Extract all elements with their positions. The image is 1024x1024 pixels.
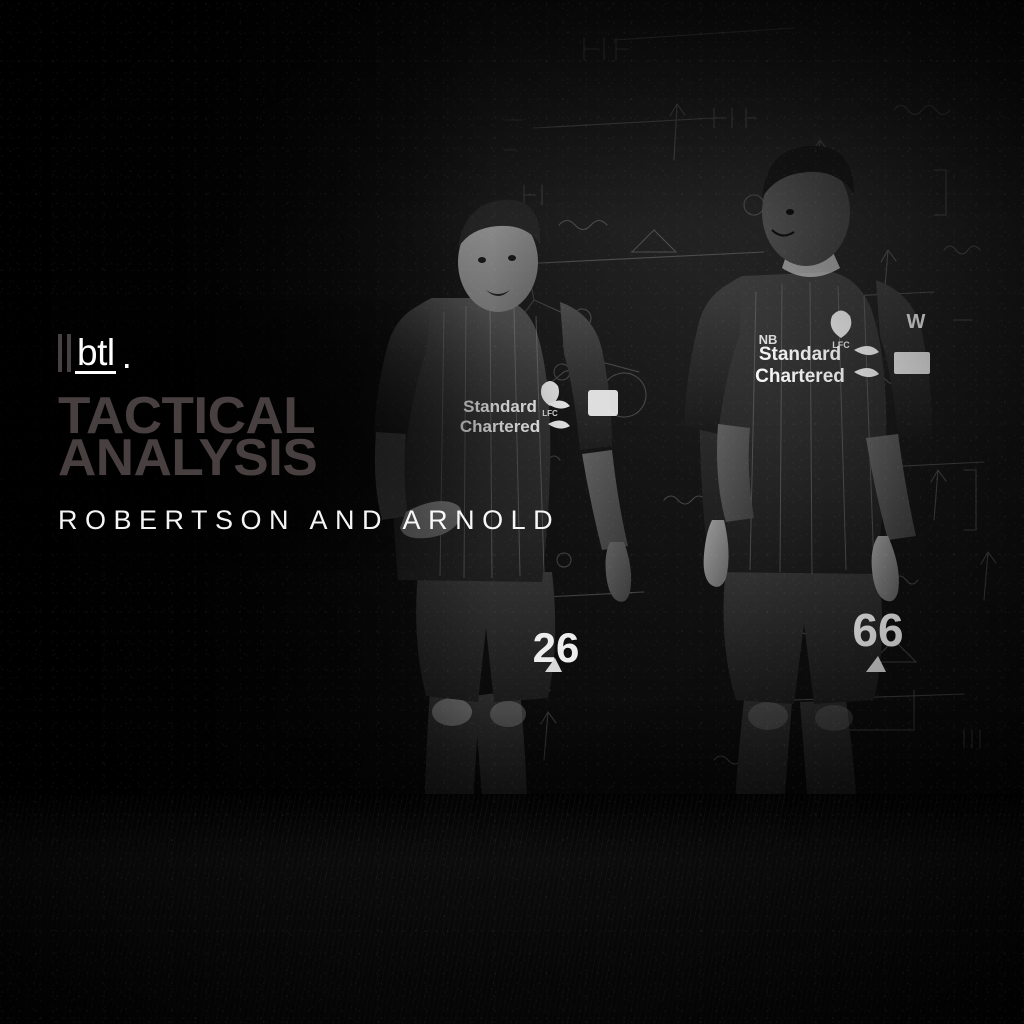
poster-canvas: 26 [0, 0, 1024, 1024]
logo-wordmark: btl [75, 336, 116, 374]
logo-bars-icon [58, 334, 71, 374]
headline-block: btl . TACTICAL ANALYSIS ROBERTSON AND AR… [58, 330, 578, 536]
btl-logo[interactable]: btl . [58, 330, 578, 374]
title-line-2: ANALYSIS [58, 438, 588, 480]
logo-dot: . [120, 339, 132, 373]
page-title: TACTICAL ANALYSIS [58, 396, 588, 479]
subtitle: ROBERTSON AND ARNOLD [58, 505, 578, 536]
